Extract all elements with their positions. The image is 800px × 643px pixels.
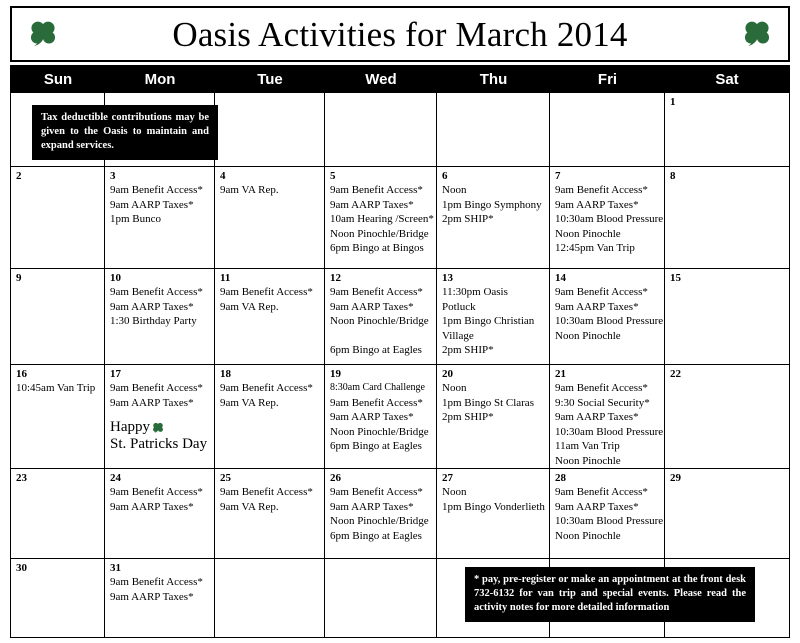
day-number: 21 — [555, 368, 660, 380]
event-item: 9am Benefit Access* — [110, 381, 210, 396]
day-number: 1 — [670, 96, 785, 108]
day-number: 26 — [330, 472, 432, 484]
day-cell[interactable]: 26 9am Benefit Access* 9am AARP Taxes* N… — [325, 469, 437, 558]
page-title: Oasis Activities for March 2014 — [60, 17, 740, 52]
day-cell[interactable]: 25 9am Benefit Access* 9am VA Rep. — [215, 469, 325, 558]
day-cell[interactable] — [550, 93, 665, 166]
day-cell[interactable]: 6 Noon 1pm Bingo Symphony 2pm SHIP* — [437, 167, 550, 268]
calendar-week-row: 23 24 9am Benefit Access* 9am AARP Taxes… — [11, 469, 789, 559]
event-item: Noon Pinochle — [555, 529, 660, 544]
event-item: 9am VA Rep. — [220, 396, 320, 411]
day-number: 7 — [555, 170, 660, 182]
event-item: Noon Pinochle — [555, 227, 660, 242]
event-item: 9am AARP Taxes* — [110, 300, 210, 315]
day-cell[interactable]: 23 — [11, 469, 105, 558]
day-number: 6 — [442, 170, 545, 182]
event-item: 9am Benefit Access* — [555, 285, 660, 300]
shamrock-icon — [740, 17, 774, 51]
event-item: 9am AARP Taxes* — [110, 396, 210, 411]
day-number: 19 — [330, 368, 432, 380]
day-cell[interactable] — [215, 93, 325, 166]
day-cell[interactable]: 21 9am Benefit Access* 9:30 Social Secur… — [550, 365, 665, 468]
event-item: 2pm SHIP* — [442, 410, 545, 425]
event-item: Potluck — [442, 300, 545, 315]
event-item: 2pm SHIP* — [442, 343, 545, 358]
event-item: 1pm Bingo Symphony — [442, 198, 545, 213]
day-cell[interactable]: 13 11:30pm Oasis Potluck 1pm Bingo Chris… — [437, 269, 550, 364]
day-cell[interactable]: 3 9am Benefit Access* 9am AARP Taxes* 1p… — [105, 167, 215, 268]
event-item: Village — [442, 329, 545, 344]
day-cell[interactable]: 9 — [11, 269, 105, 364]
day-number: 22 — [670, 368, 785, 380]
event-item: Noon Pinochle/Bridge — [330, 314, 432, 329]
weekday-sat: Sat — [665, 65, 789, 93]
day-cell[interactable]: 15 — [665, 269, 789, 364]
day-cell[interactable]: 20 Noon 1pm Bingo St Claras 2pm SHIP* — [437, 365, 550, 468]
event-item: 9am Benefit Access* — [110, 575, 210, 590]
day-cell[interactable] — [215, 559, 325, 637]
day-number: 12 — [330, 272, 432, 284]
event-item-spacer — [330, 329, 432, 344]
day-cell[interactable]: 10 9am Benefit Access* 9am AARP Taxes* 1… — [105, 269, 215, 364]
weekday-tue: Tue — [215, 65, 325, 93]
day-cell[interactable]: 5 9am Benefit Access* 9am AARP Taxes* 10… — [325, 167, 437, 268]
day-number: 15 — [670, 272, 785, 284]
event-item: 9am AARP Taxes* — [330, 410, 432, 425]
greeting-line-1: Happy — [110, 419, 150, 436]
event-item: Noon Pinochle/Bridge — [330, 227, 432, 242]
event-item: 9am AARP Taxes* — [555, 198, 660, 213]
event-item: Noon — [442, 381, 545, 396]
event-item: 8:30am Card Challenge — [330, 381, 432, 396]
event-item: 6pm Bingo at Eagles — [330, 529, 432, 544]
day-cell[interactable]: 17 9am Benefit Access* 9am AARP Taxes* H… — [105, 365, 215, 468]
event-item: 9am Benefit Access* — [330, 485, 432, 500]
event-item: 9am AARP Taxes* — [330, 300, 432, 315]
weekday-fri: Fri — [550, 65, 665, 93]
day-cell[interactable]: 24 9am Benefit Access* 9am AARP Taxes* — [105, 469, 215, 558]
day-number: 3 — [110, 170, 210, 182]
event-item: 9am Benefit Access* — [110, 285, 210, 300]
day-cell[interactable]: 12 9am Benefit Access* 9am AARP Taxes* N… — [325, 269, 437, 364]
event-item: 9am Benefit Access* — [330, 183, 432, 198]
event-item: 9am VA Rep. — [220, 300, 320, 315]
day-cell[interactable]: 29 — [665, 469, 789, 558]
event-item: 9am AARP Taxes* — [330, 500, 432, 515]
event-item: 9am AARP Taxes* — [555, 500, 660, 515]
day-number: 18 — [220, 368, 320, 380]
weekday-mon: Mon — [105, 65, 215, 93]
event-item: 9am Benefit Access* — [220, 485, 320, 500]
event-item: 6pm Bingo at Eagles — [330, 439, 432, 454]
event-item: 9am Benefit Access* — [110, 183, 210, 198]
calendar-week-row: 9 10 9am Benefit Access* 9am AARP Taxes*… — [11, 269, 789, 365]
event-item: Noon — [442, 183, 545, 198]
day-cell[interactable] — [437, 93, 550, 166]
event-item: 9am Benefit Access* — [330, 396, 432, 411]
day-number: 9 — [16, 272, 100, 284]
event-item: 10:30am Blood Pressure — [555, 514, 660, 529]
calendar-grid: 1 Tax deductible contributions may be gi… — [10, 93, 790, 638]
day-number: 27 — [442, 472, 545, 484]
day-cell[interactable]: 22 — [665, 365, 789, 468]
day-number: 31 — [110, 562, 210, 574]
day-cell[interactable]: 2 — [11, 167, 105, 268]
day-number: 17 — [110, 368, 210, 380]
event-item: 1pm Bunco — [110, 212, 210, 227]
day-cell[interactable]: 27 Noon 1pm Bingo Vonderlieth — [437, 469, 550, 558]
event-item: 9am Benefit Access* — [555, 183, 660, 198]
event-item: Noon Pinochle — [555, 329, 660, 344]
day-number: 25 — [220, 472, 320, 484]
event-item: 9am Benefit Access* — [110, 485, 210, 500]
title-banner: Oasis Activities for March 2014 — [10, 6, 790, 62]
day-number: 10 — [110, 272, 210, 284]
event-item: 9am Benefit Access* — [555, 381, 660, 396]
day-cell[interactable]: 14 9am Benefit Access* 9am AARP Taxes* 1… — [550, 269, 665, 364]
event-item: 9am Benefit Access* — [555, 485, 660, 500]
event-item: Noon Pinochle/Bridge — [330, 425, 432, 440]
day-number: 29 — [670, 472, 785, 484]
event-item: 11:30pm Oasis — [442, 285, 545, 300]
weekday-wed: Wed — [325, 65, 437, 93]
event-item: 10:30am Blood Pressure — [555, 425, 660, 440]
event-item: 10am Hearing /Screen* — [330, 212, 432, 227]
day-number: 23 — [16, 472, 100, 484]
event-item: 6pm Bingo at Bingos — [330, 241, 432, 256]
event-item: 1:30 Birthday Party — [110, 314, 210, 329]
event-item: Noon — [442, 485, 545, 500]
day-cell[interactable]: 4 9am VA Rep. — [215, 167, 325, 268]
event-item: 1pm Bingo Vonderlieth — [442, 500, 545, 515]
day-number: 30 — [16, 562, 100, 574]
day-number: 4 — [220, 170, 320, 182]
calendar-week-row: 2 3 9am Benefit Access* 9am AARP Taxes* … — [11, 167, 789, 269]
event-item: 9am AARP Taxes* — [330, 198, 432, 213]
day-cell[interactable]: 1 — [665, 93, 789, 166]
weekday-thu: Thu — [437, 65, 550, 93]
day-cell[interactable] — [325, 559, 437, 637]
event-item: 9am AARP Taxes* — [110, 198, 210, 213]
greeting-line-1-wrapper: Happy — [110, 419, 210, 436]
st-patricks-greeting: Happy St. Patricks Da — [110, 419, 210, 453]
day-cell[interactable] — [325, 93, 437, 166]
day-number: 2 — [16, 170, 100, 182]
event-item: 10:30am Blood Pressure — [555, 212, 660, 227]
day-number: 5 — [330, 170, 432, 182]
weekday-sun: Sun — [11, 65, 105, 93]
event-item: Noon Pinochle/Bridge — [330, 514, 432, 529]
event-item: 9am VA Rep. — [220, 183, 320, 198]
weekday-header-row: Sun Mon Tue Wed Thu Fri Sat — [10, 65, 790, 93]
calendar-page: Oasis Activities for March 2014 Sun Mon … — [0, 0, 800, 643]
event-item: 9:30 Social Security* — [555, 396, 660, 411]
event-item: 10:45am Van Trip — [16, 381, 100, 396]
day-number: 28 — [555, 472, 660, 484]
event-item: 2pm SHIP* — [442, 212, 545, 227]
event-item: 9am VA Rep. — [220, 500, 320, 515]
shamrock-icon — [26, 17, 60, 51]
day-cell[interactable]: 28 9am Benefit Access* 9am AARP Taxes* 1… — [550, 469, 665, 558]
calendar-week-row: 16 10:45am Van Trip 17 9am Benefit Acces… — [11, 365, 789, 469]
calendar-week-row: 1 Tax deductible contributions may be gi… — [11, 93, 789, 167]
day-number: 13 — [442, 272, 545, 284]
day-cell[interactable]: 7 9am Benefit Access* 9am AARP Taxes* 10… — [550, 167, 665, 268]
calendar-week-row: 30 31 9am Benefit Access* 9am AARP Taxes… — [11, 559, 789, 637]
event-item: 1pm Bingo Christian — [442, 314, 545, 329]
event-item: 1pm Bingo St Claras — [442, 396, 545, 411]
day-number: 8 — [670, 170, 785, 182]
day-number: 24 — [110, 472, 210, 484]
event-item: 12:45pm Van Trip — [555, 241, 660, 256]
day-cell[interactable]: 30 — [11, 559, 105, 637]
event-item: 9am AARP Taxes* — [110, 500, 210, 515]
donation-callout: Tax deductible contributions may be give… — [32, 105, 218, 160]
event-item: 10:30am Blood Pressure — [555, 314, 660, 329]
day-number: 20 — [442, 368, 545, 380]
event-item: 11am Van Trip — [555, 439, 660, 454]
event-item: 9am Benefit Access* — [220, 381, 320, 396]
event-item: 6pm Bingo at Eagles — [330, 343, 432, 358]
day-cell[interactable]: 19 8:30am Card Challenge 9am Benefit Acc… — [325, 365, 437, 468]
day-cell[interactable]: 11 9am Benefit Access* 9am VA Rep. — [215, 269, 325, 364]
greeting-line-2: St. Patricks Day — [110, 436, 210, 453]
shamrock-icon — [151, 421, 165, 435]
event-item: 9am AARP Taxes* — [555, 410, 660, 425]
event-item: 9am Benefit Access* — [220, 285, 320, 300]
day-number: 16 — [16, 368, 100, 380]
day-cell[interactable]: 8 — [665, 167, 789, 268]
day-cell[interactable]: 16 10:45am Van Trip — [11, 365, 105, 468]
day-number: 11 — [220, 272, 320, 284]
day-cell[interactable]: 18 9am Benefit Access* 9am VA Rep. — [215, 365, 325, 468]
event-item: 9am Benefit Access* — [330, 285, 432, 300]
event-item: Noon Pinochle — [555, 454, 660, 469]
day-number: 14 — [555, 272, 660, 284]
event-item: 9am AARP Taxes* — [555, 300, 660, 315]
footnote-callout: * pay, pre-register or make an appointme… — [465, 567, 755, 622]
day-cell[interactable]: 31 9am Benefit Access* 9am AARP Taxes* — [105, 559, 215, 637]
event-item: 9am AARP Taxes* — [110, 590, 210, 605]
